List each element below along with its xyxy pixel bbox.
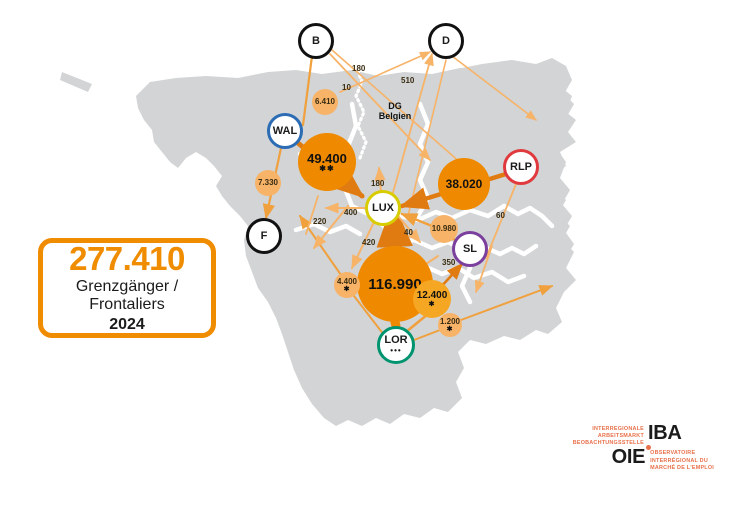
- region-node-label: D: [442, 36, 450, 47]
- logo-separator-dot: [644, 445, 653, 450]
- flow-bubble-wal-f: 7.330: [255, 170, 281, 196]
- logo-oie-wordmark: OIE: [548, 448, 645, 467]
- region-node-lux[interactable]: LUX: [365, 190, 401, 226]
- region-node-lor[interactable]: LOR•••: [377, 326, 415, 364]
- flow-bubble-value: 38.020: [446, 178, 483, 190]
- summary-box: 277.410 Grenzgänger / Frontaliers 2024: [38, 238, 216, 338]
- region-node-wal[interactable]: WAL: [267, 113, 303, 149]
- flow-bubble-value: 116.990: [368, 277, 421, 292]
- flow-bubble-value: 49.400: [307, 152, 347, 165]
- flow-bubble-footnote: ✱: [447, 326, 454, 333]
- flow-bubble-wal-b: 6.410: [312, 89, 338, 115]
- logo-german-text: INTERREGIONALE ARBEITSMARKT BEOBACHTUNGS…: [548, 424, 644, 447]
- flow-bubble-value: 12.400: [417, 291, 448, 301]
- region-node-label: LUX: [372, 203, 394, 214]
- region-node-d[interactable]: D: [428, 23, 464, 59]
- flow-label-lux-420: 420: [362, 238, 375, 247]
- summary-year: 2024: [109, 316, 145, 334]
- region-node-label: LOR: [384, 335, 407, 346]
- logo-de-line1: INTERREGIONALE: [592, 426, 644, 432]
- region-node-label: RLP: [510, 162, 532, 173]
- flow-bubble-value: 4.400: [337, 278, 357, 286]
- region-node-sl[interactable]: SL: [452, 231, 488, 267]
- flow-label-lux-180: 180: [371, 179, 384, 188]
- flow-bubble-lor-sl: 12.400✱: [413, 280, 451, 318]
- region-node-f[interactable]: F: [246, 218, 282, 254]
- summary-subtitle-line2: Frontaliers: [89, 296, 165, 313]
- region-node-label: B: [312, 36, 320, 47]
- infographic-root: 277.410 Grenzgänger / Frontaliers 2024 D…: [0, 0, 732, 516]
- logo-fr-line2: INTERRÉGIONAL DU: [650, 458, 708, 464]
- flow-label-lux-220: 220: [313, 217, 326, 226]
- dg-belgien-line2: Belgien: [379, 111, 412, 121]
- logo-fr-line1: OBSERVATOIRE: [650, 450, 695, 456]
- flow-bubble-footnote: ✱: [344, 286, 351, 293]
- flow-bubble-value: 10.980: [432, 225, 456, 233]
- iba-oie-logo: INTERREGIONALE ARBEITSMARKT BEOBACHTUNGS…: [548, 424, 724, 482]
- flow-bubble-value: 1.200: [440, 318, 460, 326]
- flow-label-b-10: 10: [342, 83, 351, 92]
- logo-dot-icon: [646, 445, 651, 450]
- summary-subtitle-line1: Grenzgänger /: [76, 278, 178, 295]
- logo-de-line3: BEOBACHTUNGSSTELLE: [573, 440, 644, 446]
- logo-french-text: OBSERVATOIRE INTERRÉGIONAL DU MARCHÉ DE …: [650, 448, 724, 471]
- region-node-label: WAL: [273, 126, 297, 137]
- logo-fr-line3: MARCHÉ DE L'EMPLOI: [650, 465, 714, 471]
- flow-label-lux-400: 400: [344, 208, 357, 217]
- flow-label-lux-40: 40: [404, 228, 413, 237]
- summary-total: 277.410: [69, 242, 185, 275]
- region-node-b[interactable]: B: [298, 23, 334, 59]
- region-node-footnote: •••: [390, 347, 401, 355]
- flow-bubble-value: 6.410: [315, 98, 335, 106]
- flow-label-b-180: 180: [352, 64, 365, 73]
- summary-subtitle: Grenzgänger / Frontaliers: [76, 278, 178, 314]
- region-node-rlp[interactable]: RLP: [503, 149, 539, 185]
- logo-iba-wordmark: IBA: [648, 424, 682, 443]
- flow-bubble-footnote: ✱: [429, 301, 436, 308]
- flow-bubble-footnote: ✱✱: [319, 165, 334, 173]
- flow-bubble-wal-lux: 49.400✱✱: [298, 133, 356, 191]
- flow-label-d-510: 510: [401, 76, 414, 85]
- flow-label-rlp-60: 60: [496, 211, 505, 220]
- flow-bubble-lor-wal: 4.400✱: [334, 272, 360, 298]
- region-node-label: F: [261, 231, 268, 242]
- region-node-label: SL: [463, 244, 477, 255]
- flow-bubble-rlp-lux: 38.020: [438, 158, 490, 210]
- flow-bubble-lor-rlp: 1.200✱: [438, 313, 462, 337]
- dg-belgien-line1: DG: [388, 101, 402, 111]
- flow-bubble-value: 7.330: [258, 179, 278, 187]
- flow-label-sl-350: 350: [442, 258, 455, 267]
- logo-de-line2: ARBEITSMARKT: [598, 433, 644, 439]
- dg-belgien-label: DG Belgien: [370, 101, 420, 122]
